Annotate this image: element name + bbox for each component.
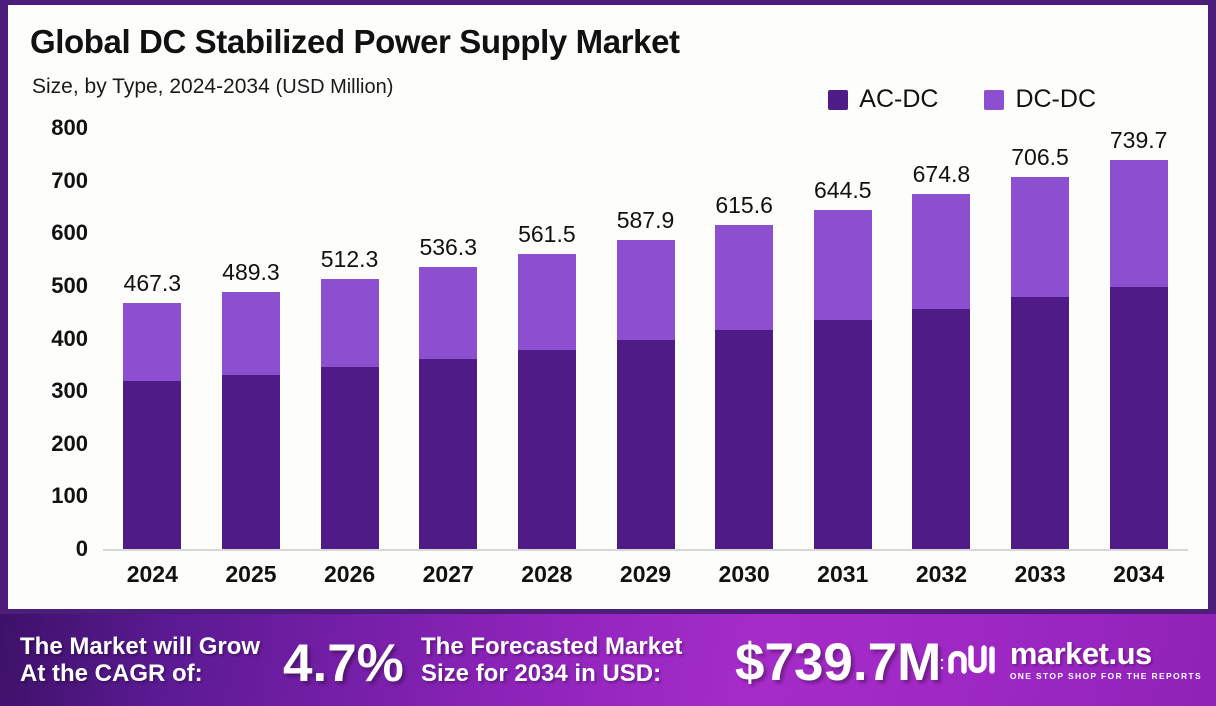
bar-column[interactable] — [1110, 160, 1168, 549]
bar-series-area: 467.3489.3512.3536.3561.5587.9615.6644.5… — [103, 128, 1188, 549]
subtitle-main: Size, by Type, 2024-2034 — [32, 75, 270, 98]
bar-value-label: 587.9 — [617, 207, 675, 234]
y-axis-tick: 700 — [51, 168, 88, 194]
bar-value-label: 674.8 — [913, 161, 971, 188]
x-axis-tick: 2028 — [521, 561, 572, 588]
bar-value-label: 739.7 — [1110, 127, 1168, 154]
bar-column[interactable] — [518, 254, 576, 549]
page-title: Global DC Stabilized Power Supply Market — [30, 23, 680, 61]
logo-name: market.us — [1010, 638, 1202, 669]
legend-item-ac-dc[interactable]: AC-DC — [828, 85, 938, 114]
x-axis-tick: 2025 — [225, 561, 276, 588]
bar-column[interactable] — [222, 292, 280, 549]
x-axis-tick: 2024 — [127, 561, 178, 588]
bar-segment-dc-dc[interactable] — [518, 254, 576, 350]
x-axis-tick: 2027 — [423, 561, 474, 588]
x-axis-line — [103, 549, 1188, 551]
bar-segment-dc-dc[interactable] — [321, 279, 379, 367]
bar-segment-dc-dc[interactable] — [715, 225, 773, 330]
bar-segment-ac-dc[interactable] — [321, 367, 379, 549]
y-axis-labels: 0100200300400500600700800 — [22, 128, 88, 549]
footer-banner: The Market will Grow At the CAGR of: 4.7… — [0, 614, 1216, 706]
bar-segment-dc-dc[interactable] — [814, 210, 872, 320]
y-axis-tick: 400 — [51, 326, 88, 352]
bar-segment-ac-dc[interactable] — [123, 381, 181, 549]
x-axis-tick: 2031 — [817, 561, 868, 588]
x-axis-tick: 2033 — [1014, 561, 1065, 588]
bar-value-label: 536.3 — [419, 234, 477, 261]
legend-label-dc-dc: DC-DC — [1015, 85, 1096, 114]
bar-column[interactable] — [419, 267, 477, 549]
market-us-logo[interactable]: market.us ONE STOP SHOP FOR THE REPORTS — [938, 638, 1202, 681]
bar-value-label: 467.3 — [124, 270, 182, 297]
bar-segment-dc-dc[interactable] — [1110, 160, 1168, 287]
bar-column[interactable] — [715, 225, 773, 549]
legend-swatch-dc-dc — [984, 90, 1004, 110]
market-us-logo-icon — [938, 642, 1000, 676]
x-axis-labels: 2024202520262027202820292030203120322033… — [103, 561, 1188, 601]
bar-column[interactable] — [912, 194, 970, 549]
bar-segment-ac-dc[interactable] — [814, 320, 872, 549]
bar-column[interactable] — [1011, 177, 1069, 549]
market-us-logo-text: market.us ONE STOP SHOP FOR THE REPORTS — [1010, 638, 1202, 681]
bar-segment-dc-dc[interactable] — [617, 240, 675, 340]
bar-segment-dc-dc[interactable] — [222, 292, 280, 376]
bar-segment-ac-dc[interactable] — [715, 330, 773, 549]
bar-value-label: 615.6 — [715, 192, 773, 219]
infographic-root: Global DC Stabilized Power Supply Market… — [0, 0, 1216, 706]
bar-value-label: 561.5 — [518, 221, 576, 248]
chart-subtitle: Size, by Type, 2024-2034 (USD Million) — [32, 75, 393, 99]
forecast-value: $739.7M — [735, 632, 941, 693]
subtitle-unit: (USD Million) — [276, 76, 394, 98]
x-axis-tick: 2034 — [1113, 561, 1164, 588]
bar-segment-ac-dc[interactable] — [617, 340, 675, 549]
forecast-label-line2: Size for 2034 in USD: — [421, 661, 682, 688]
legend-item-dc-dc[interactable]: DC-DC — [984, 85, 1096, 114]
bar-column[interactable] — [321, 279, 379, 549]
bar-column[interactable] — [617, 240, 675, 549]
bar-column[interactable] — [123, 303, 181, 549]
y-axis-tick: 300 — [51, 378, 88, 404]
bar-segment-ac-dc[interactable] — [1011, 297, 1069, 549]
y-axis-tick: 800 — [51, 115, 88, 141]
cagr-label-line1: The Market will Grow — [20, 634, 260, 661]
x-axis-tick: 2030 — [719, 561, 770, 588]
bar-segment-ac-dc[interactable] — [1110, 287, 1168, 549]
cagr-label-line2: At the CAGR of: — [20, 661, 260, 688]
bar-value-label: 512.3 — [321, 246, 379, 273]
bar-segment-ac-dc[interactable] — [222, 375, 280, 549]
bar-segment-dc-dc[interactable] — [912, 194, 970, 309]
cagr-value: 4.7% — [283, 633, 404, 694]
bar-segment-dc-dc[interactable] — [123, 303, 181, 381]
bar-segment-ac-dc[interactable] — [518, 350, 576, 549]
legend-label-ac-dc: AC-DC — [859, 85, 938, 114]
cagr-label: The Market will Grow At the CAGR of: — [20, 634, 260, 688]
bar-value-label: 489.3 — [222, 259, 280, 286]
chart-card: Global DC Stabilized Power Supply Market… — [8, 5, 1208, 609]
bar-value-label: 644.5 — [814, 177, 872, 204]
y-axis-tick: 100 — [51, 483, 88, 509]
y-axis-tick: 600 — [51, 220, 88, 246]
y-axis-tick: 200 — [51, 431, 88, 457]
bar-column[interactable] — [814, 210, 872, 549]
forecast-label-line1: The Forecasted Market — [421, 634, 682, 661]
legend-swatch-ac-dc — [828, 90, 848, 110]
bar-segment-ac-dc[interactable] — [419, 359, 477, 550]
forecast-label: The Forecasted Market Size for 2034 in U… — [421, 634, 682, 688]
logo-tagline: ONE STOP SHOP FOR THE REPORTS — [1010, 672, 1202, 681]
x-axis-tick: 2026 — [324, 561, 375, 588]
y-axis-tick: 500 — [51, 273, 88, 299]
chart-legend: AC-DC DC-DC — [828, 85, 1096, 114]
x-axis-tick: 2032 — [916, 561, 967, 588]
bar-segment-dc-dc[interactable] — [419, 267, 477, 359]
x-axis-tick: 2029 — [620, 561, 671, 588]
y-axis-tick: 0 — [76, 536, 88, 562]
bar-segment-ac-dc[interactable] — [912, 309, 970, 549]
bar-segment-dc-dc[interactable] — [1011, 177, 1069, 297]
bar-value-label: 706.5 — [1011, 144, 1069, 171]
